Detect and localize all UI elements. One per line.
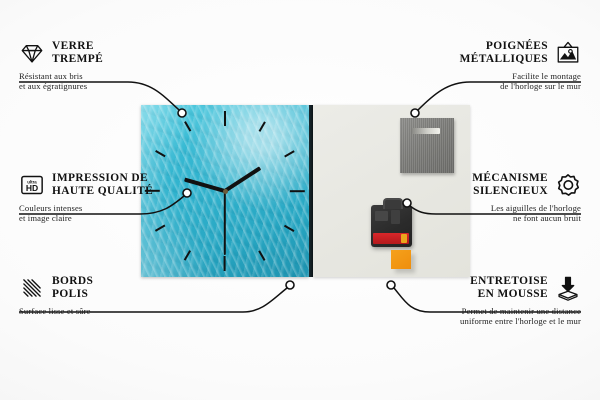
ultra-hd-icon: ultra HD bbox=[19, 172, 45, 198]
clock-tick-2 bbox=[284, 150, 294, 157]
clock-tick-12 bbox=[224, 111, 226, 126]
callout-description: Permet de maintenir une distance uniform… bbox=[385, 306, 581, 327]
callout-title: VERRE TREMPÉ bbox=[52, 40, 103, 65]
battery bbox=[373, 233, 409, 244]
callout-title: BORDS POLIS bbox=[52, 275, 93, 300]
callout-verre-trempe[interactable]: VERRE TREMPÉ Résistant aux bris et aux é… bbox=[19, 40, 215, 92]
clock-tick-7 bbox=[184, 250, 191, 260]
callout-description: Les aiguilles de l'horloge ne font aucun… bbox=[385, 203, 581, 224]
callout-impression-haute-qualite[interactable]: ultra HD IMPRESSION DE HAUTE QUALITÉ Cou… bbox=[19, 172, 215, 224]
clock-tick-3 bbox=[290, 190, 305, 192]
metal-hanging-plate bbox=[400, 118, 454, 173]
clock-tick-10 bbox=[155, 150, 165, 157]
callout-description: Résistant aux bris et aux égratignures bbox=[19, 71, 215, 92]
clock-second-hand bbox=[224, 191, 226, 255]
hanger-slot bbox=[412, 128, 440, 134]
callout-mecanisme-silencieux[interactable]: MÉCANISME SILENCIEUX Les aiguilles de l'… bbox=[385, 172, 581, 224]
clock-tick-5 bbox=[259, 250, 266, 260]
polished-edge-icon bbox=[19, 275, 45, 301]
callout-title: IMPRESSION DE HAUTE QUALITÉ bbox=[52, 172, 153, 197]
callout-title: MÉCANISME SILENCIEUX bbox=[472, 172, 548, 197]
clock-tick-11 bbox=[184, 121, 191, 131]
clock-tick-8 bbox=[155, 225, 165, 232]
clock-tick-1 bbox=[259, 121, 266, 131]
infographic-canvas: VERRE TREMPÉ Résistant aux bris et aux é… bbox=[0, 0, 600, 400]
svg-text:HD: HD bbox=[26, 183, 38, 193]
wall-frame-icon bbox=[555, 40, 581, 66]
clock-tick-4 bbox=[284, 225, 294, 232]
clock-tick-6 bbox=[224, 256, 226, 271]
battery-terminal bbox=[401, 234, 407, 243]
callout-description: Facilite le montage de l'horloge sur le … bbox=[385, 71, 581, 92]
callout-bords-polis[interactable]: BORDS POLIS Surface lisse et sûre bbox=[19, 275, 215, 316]
clock-center-cap bbox=[223, 189, 228, 194]
callout-entretoise-en-mousse[interactable]: ENTRETOISE EN MOUSSE Permet de maintenir… bbox=[385, 275, 581, 327]
callout-title: POIGNÉES MÉTALLIQUES bbox=[460, 40, 548, 65]
callout-description: Couleurs intenses et image claire bbox=[19, 203, 215, 224]
clock-hour-hand bbox=[224, 166, 262, 192]
diamond-icon bbox=[19, 40, 45, 66]
foam-spacer bbox=[391, 250, 411, 269]
gear-icon bbox=[555, 172, 581, 198]
callout-title: ENTRETOISE EN MOUSSE bbox=[470, 275, 548, 300]
callout-description: Surface lisse et sûre bbox=[19, 306, 215, 316]
marker-bords-polis bbox=[286, 281, 294, 289]
press-pad-icon bbox=[555, 275, 581, 301]
callout-poignees-metalliques[interactable]: POIGNÉES MÉTALLIQUES Facilite le montage… bbox=[385, 40, 581, 92]
